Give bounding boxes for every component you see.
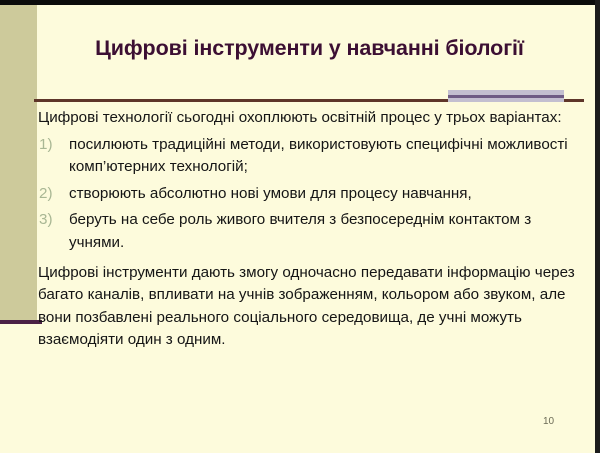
list-item-marker: 1) (39, 134, 53, 157)
right-edge-border (595, 0, 600, 453)
closing-paragraph: Цифрові інструменти дають змогу одночасн… (38, 262, 583, 352)
top-black-band (0, 0, 600, 5)
list-item-text: посилюють традиційні методи, використову… (69, 136, 568, 176)
list-item-marker: 3) (39, 209, 53, 232)
left-accent-strip-cap (0, 320, 42, 324)
presentation-slide: Цифрові інструменти у навчанні біології … (0, 0, 600, 453)
lavender-accent-bar (448, 90, 564, 102)
slide-title: Цифрові інструменти у навчанні біології (37, 36, 582, 61)
list-item-text: беруть на себе роль живого вчителя з без… (69, 211, 531, 251)
list-item-marker: 2) (39, 183, 53, 206)
lavender-accent-bar-line (448, 95, 564, 98)
list-item: 2) створюють абсолютно нові умови для пр… (38, 183, 583, 206)
page-number: 10 (543, 416, 554, 427)
slide-body: Цифрові технології сьогодні охоплюють ос… (38, 107, 583, 352)
left-accent-strip (0, 5, 37, 322)
numbered-list: 1) посилюють традиційні методи, використ… (38, 134, 583, 255)
list-item-text: створюють абсолютно нові умови для проце… (69, 185, 472, 202)
list-item: 1) посилюють традиційні методи, використ… (38, 134, 583, 179)
intro-paragraph: Цифрові технології сьогодні охоплюють ос… (38, 107, 583, 130)
list-item: 3) беруть на себе роль живого вчителя з … (38, 209, 583, 254)
